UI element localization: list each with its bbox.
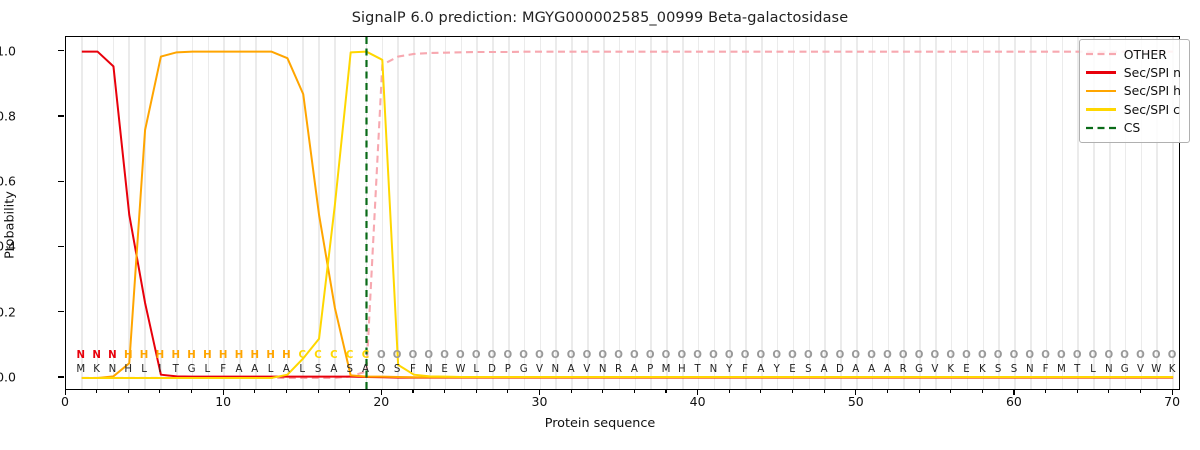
x-axis-tick-label: 70 xyxy=(1164,394,1180,409)
plot-area xyxy=(65,36,1180,390)
legend-item-sec-spi-h[interactable]: Sec/SPI h xyxy=(1086,82,1181,100)
y-axis-tick-mark xyxy=(58,50,64,51)
series-line-other xyxy=(82,52,1173,378)
data-series-layer xyxy=(66,37,1179,389)
y-axis-tick-mark xyxy=(58,311,64,312)
x-axis-tick-label: 0 xyxy=(61,394,69,409)
legend: OTHERSec/SPI nSec/SPI hSec/SPI cCS xyxy=(1079,39,1190,143)
series-line-sec-spi-c xyxy=(82,52,1173,378)
y-axis-tick-label: 0.6 xyxy=(0,174,16,189)
x-axis-tick-label: 40 xyxy=(690,394,706,409)
y-axis-tick-label: 0.0 xyxy=(0,369,16,384)
series-line-sec-spi-h xyxy=(82,52,1173,378)
legend-item-sec-spi-c[interactable]: Sec/SPI c xyxy=(1086,100,1181,118)
legend-item-cs[interactable]: CS xyxy=(1086,119,1181,137)
y-axis-tick-mark xyxy=(58,181,64,182)
y-axis-tick-label: 1.0 xyxy=(0,43,16,58)
y-axis-tick-mark xyxy=(58,376,64,377)
x-axis-tick-label: 30 xyxy=(532,394,548,409)
x-axis-tick-label: 20 xyxy=(373,394,389,409)
x-axis-tick-label: 50 xyxy=(848,394,864,409)
legend-label: Sec/SPI h xyxy=(1124,83,1181,98)
y-axis-tick-label: 0.4 xyxy=(0,239,16,254)
signalp-prediction-figure: SignalP 6.0 prediction: MGYG000002585_00… xyxy=(0,0,1200,450)
y-axis-tick-mark xyxy=(58,246,64,247)
legend-item-other[interactable]: OTHER xyxy=(1086,45,1181,63)
y-axis-tick-mark xyxy=(58,115,64,116)
x-axis-tick-label: 10 xyxy=(215,394,231,409)
x-axis-label: Protein sequence xyxy=(0,416,1200,431)
series-line-sec-spi-n xyxy=(82,52,1173,378)
legend-item-sec-spi-n[interactable]: Sec/SPI n xyxy=(1086,63,1181,81)
legend-label: OTHER xyxy=(1124,47,1167,62)
series-canvas xyxy=(66,37,1181,391)
chart-title: SignalP 6.0 prediction: MGYG000002585_00… xyxy=(0,10,1200,26)
legend-label: Sec/SPI c xyxy=(1124,102,1180,117)
y-axis-tick-label: 0.8 xyxy=(0,108,16,123)
y-axis-tick-label: 0.2 xyxy=(0,304,16,319)
x-axis-tick-label: 60 xyxy=(1006,394,1022,409)
legend-label: Sec/SPI n xyxy=(1124,65,1181,80)
legend-label: CS xyxy=(1124,120,1141,135)
